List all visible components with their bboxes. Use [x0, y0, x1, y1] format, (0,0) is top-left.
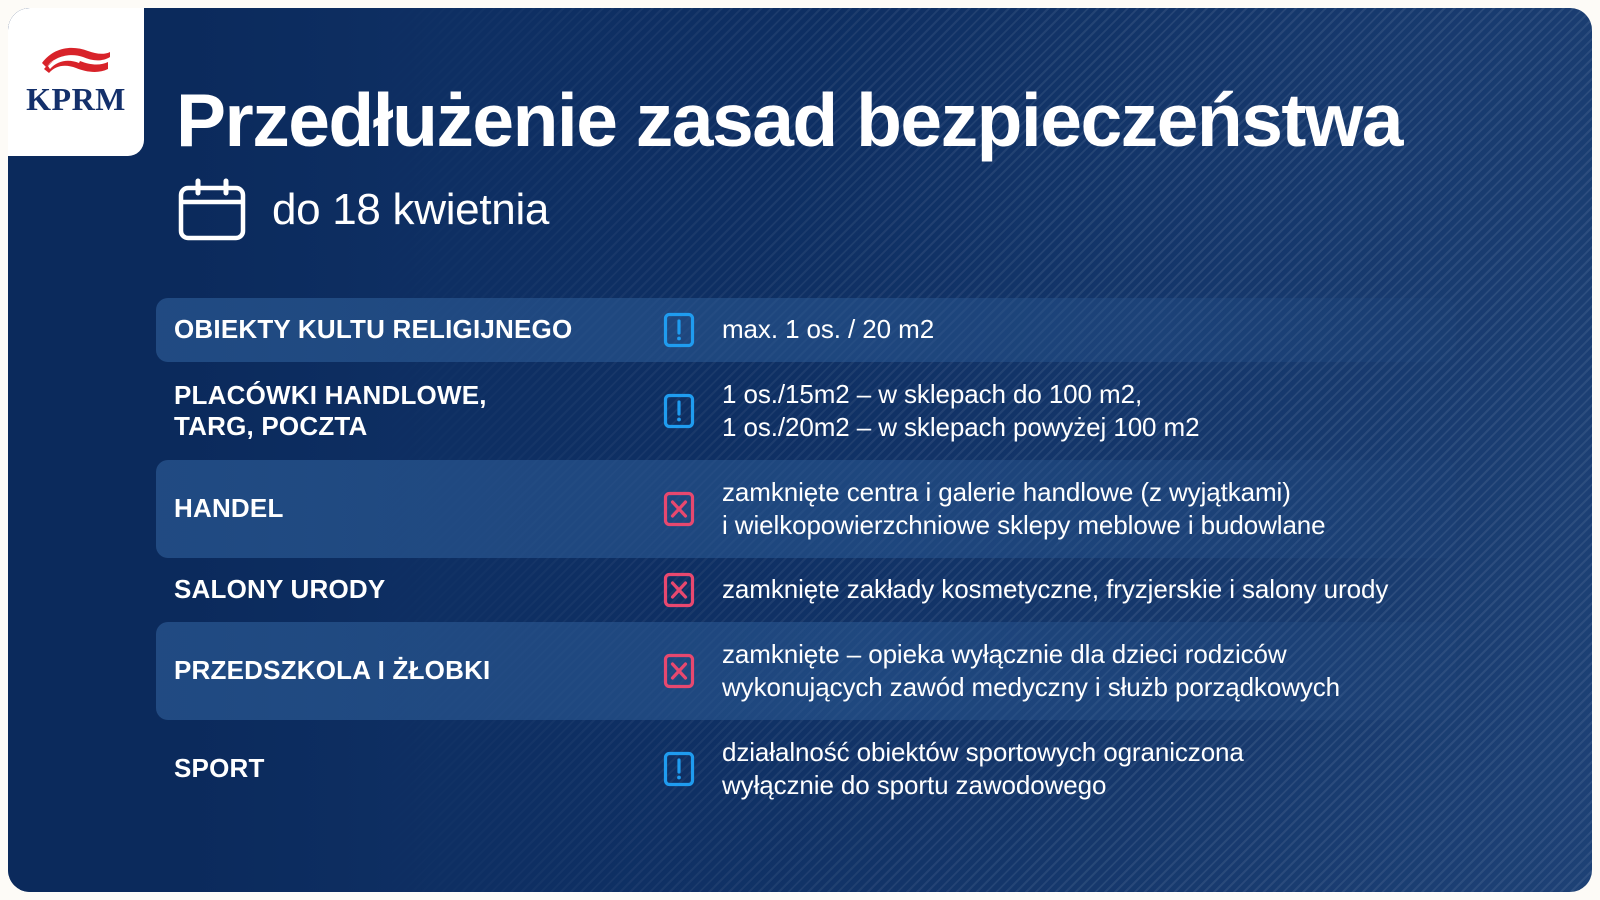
rule-row: SALONY URODYzamknięte zakłady kosmetyczn… — [156, 558, 1456, 622]
rule-description: 1 os./15m2 – w sklepach do 100 m2,1 os./… — [714, 378, 1456, 445]
polish-flag-emblem-icon — [38, 43, 114, 81]
cross-box-icon — [663, 653, 695, 689]
exclamation-box-icon — [663, 393, 695, 429]
rule-description: max. 1 os. / 20 m2 — [714, 313, 1456, 346]
rule-row: HANDELzamknięte centra i galerie handlow… — [156, 460, 1456, 558]
rule-category-label: HANDEL — [174, 493, 644, 524]
rule-row: PRZEDSZKOLA I ŻŁOBKIzamknięte – opieka w… — [156, 622, 1456, 720]
rule-row: SPORTdziałalność obiektów sportowych ogr… — [156, 720, 1456, 818]
exclamation-box-icon — [663, 751, 695, 787]
header: Przedłużenie zasad bezpieczeństwa do 18 … — [176, 82, 1532, 243]
kprm-logo: KPRM — [8, 8, 144, 156]
rule-status-icon-wrap — [644, 393, 714, 429]
rule-status-icon-wrap — [644, 653, 714, 689]
rule-category-label: SALONY URODY — [174, 574, 644, 605]
kprm-wordmark: KPRM — [26, 83, 126, 115]
cross-box-icon — [663, 572, 695, 608]
rule-category-label: PRZEDSZKOLA I ŻŁOBKI — [174, 655, 644, 686]
rule-description: zamknięte centra i galerie handlowe (z w… — [714, 476, 1456, 543]
subtitle-row: do 18 kwietnia — [176, 177, 1532, 243]
rule-row: OBIEKTY KULTU RELIGIJNEGOmax. 1 os. / 20… — [156, 298, 1456, 362]
rule-status-icon-wrap — [644, 572, 714, 608]
rule-row: PLACÓWKI HANDLOWE,TARG, POCZTA1 os./15m2… — [156, 362, 1456, 460]
infographic-card: KPRM Przedłużenie zasad bezpieczeństwa d… — [8, 8, 1592, 892]
rule-status-icon-wrap — [644, 491, 714, 527]
page-subtitle: do 18 kwietnia — [272, 188, 549, 232]
rule-description: zamknięte zakłady kosmetyczne, fryzjersk… — [714, 573, 1456, 606]
rule-description: działalność obiektów sportowych ogranicz… — [714, 736, 1456, 803]
rule-status-icon-wrap — [644, 751, 714, 787]
rule-description: zamknięte – opieka wyłącznie dla dzieci … — [714, 638, 1456, 705]
cross-box-icon — [663, 491, 695, 527]
rule-category-label: PLACÓWKI HANDLOWE,TARG, POCZTA — [174, 380, 644, 442]
rule-status-icon-wrap — [644, 312, 714, 348]
rule-category-label: SPORT — [174, 753, 644, 784]
rule-category-label: OBIEKTY KULTU RELIGIJNEGO — [174, 314, 644, 345]
calendar-icon — [176, 177, 250, 243]
page-title: Przedłużenie zasad bezpieczeństwa — [176, 82, 1532, 159]
exclamation-box-icon — [663, 312, 695, 348]
rules-list: OBIEKTY KULTU RELIGIJNEGOmax. 1 os. / 20… — [156, 298, 1456, 818]
